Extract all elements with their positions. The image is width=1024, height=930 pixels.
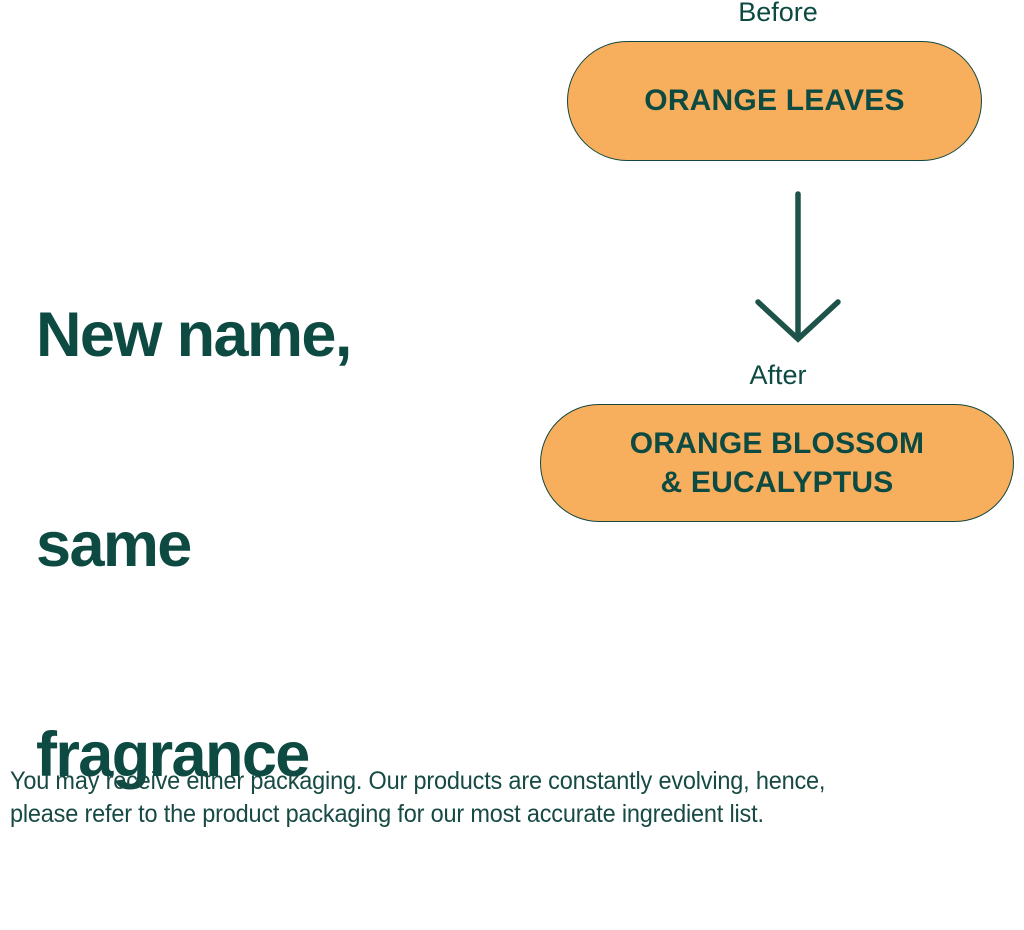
disclaimer-text: You may receive either packaging. Our pr… — [10, 765, 963, 831]
disclaimer-line-2: please refer to the product packaging fo… — [10, 798, 963, 831]
before-label: Before — [520, 0, 1024, 27]
before-product-pill: ORANGE LEAVES — [567, 41, 982, 161]
before-product-name: ORANGE LEAVES — [644, 84, 904, 118]
after-product-name-line-2: & EUCALYPTUS — [660, 466, 893, 499]
headline-line-1: New name, — [36, 300, 516, 370]
after-label: After — [520, 360, 1024, 390]
arrow-down-icon — [738, 190, 858, 350]
headline-line-2: same — [36, 510, 516, 580]
before-after-comparison: Before ORANGE LEAVES After ORANGE BLOSSO… — [520, 0, 1024, 530]
after-product-pill: ORANGE BLOSSOM& EUCALYPTUS — [540, 404, 1014, 522]
disclaimer-line-1: You may receive either packaging. Our pr… — [10, 765, 963, 798]
after-product-name-line-1: ORANGE BLOSSOM — [630, 427, 924, 460]
promo-banner: New name, same fragrance Before ORANGE L… — [0, 0, 1024, 839]
after-product-name: ORANGE BLOSSOM& EUCALYPTUS — [630, 424, 924, 502]
